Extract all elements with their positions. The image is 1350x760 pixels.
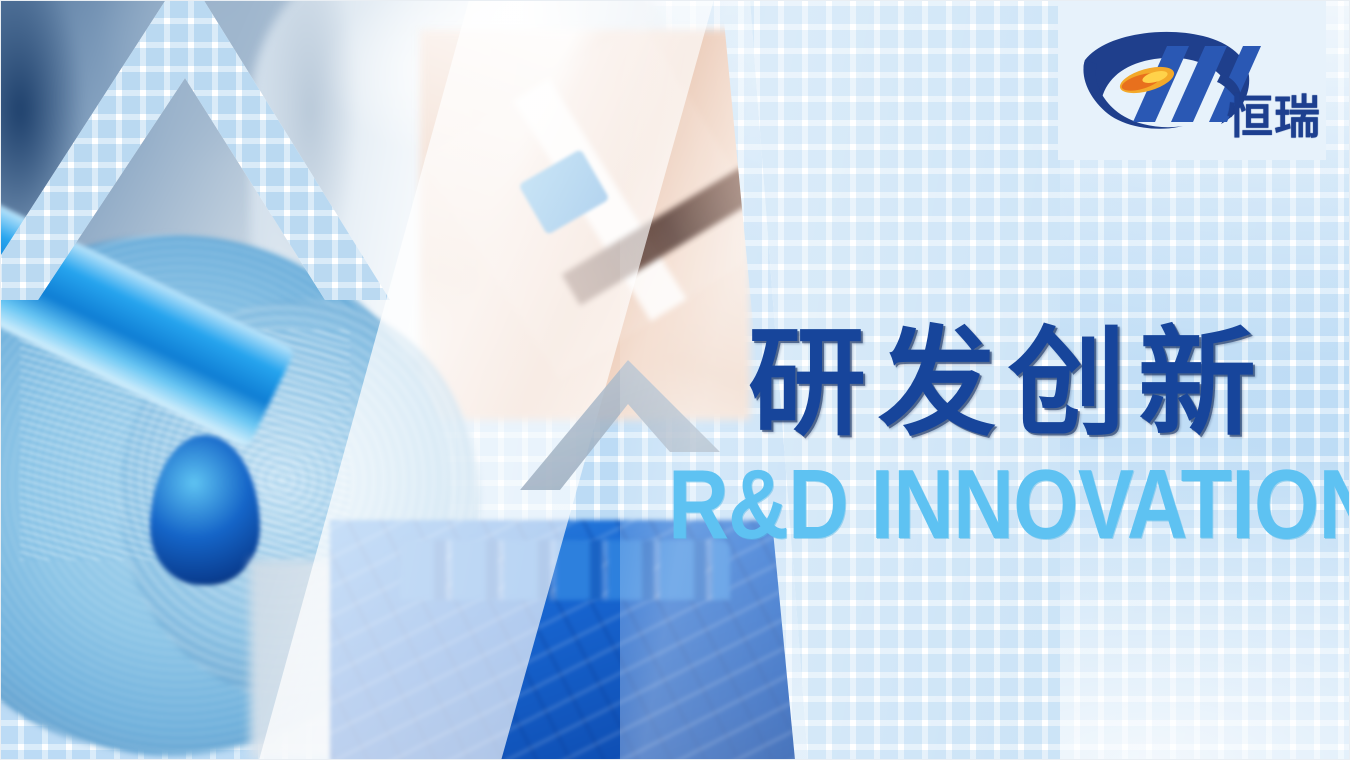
logo-brand-text: 恒瑞 — [1227, 94, 1321, 140]
headline-english: R&D INNOVATION — [668, 455, 1350, 553]
rd-innovation-banner: 研发创新 R&D INNOVATION 恒瑞 — [0, 0, 1350, 760]
logo-inner: 恒瑞 — [1067, 16, 1317, 144]
logo-box: 恒瑞 — [1058, 0, 1326, 160]
headline-chinese: 研发创新 — [748, 324, 1268, 442]
